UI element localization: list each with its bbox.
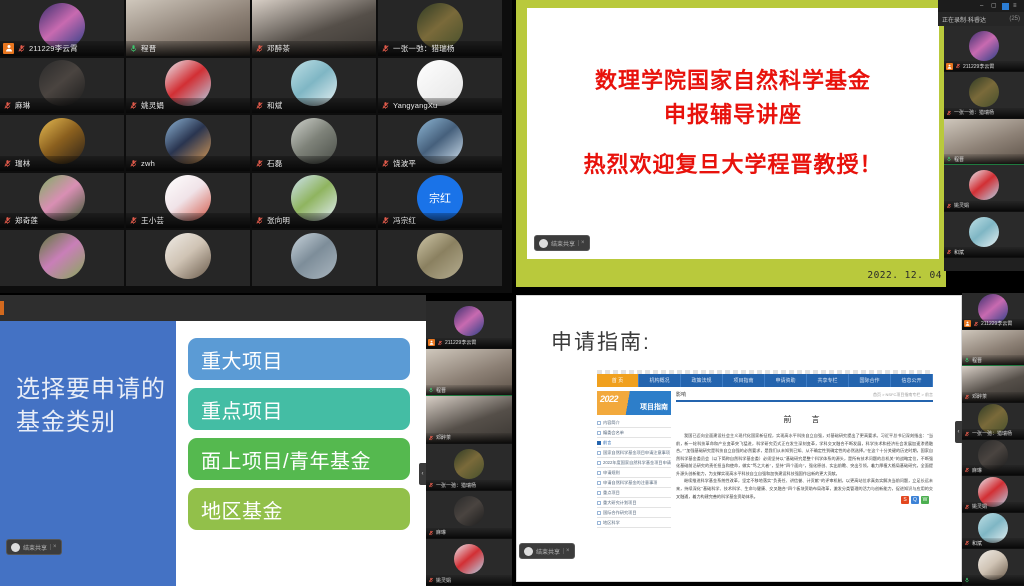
participant-name: 麻琳	[972, 467, 982, 474]
participant-namebar: 和斌	[252, 98, 376, 113]
participant-namebar: 一张一弛：猎瑞杨	[426, 480, 512, 490]
title-slide-canvas: 数理学院国家自然科学基金 申报辅导讲座 热烈欢迎复旦大学程晋教授！	[527, 8, 939, 259]
filmstrip-tile[interactable]: 和斌	[944, 212, 1024, 258]
mic-muted-icon	[428, 435, 434, 441]
bullet-icon	[597, 441, 601, 445]
avatar	[969, 217, 999, 247]
participant-name: 程晋	[954, 156, 964, 163]
filmstrip-tile[interactable]: 211229李云霄	[944, 26, 1024, 72]
participant-namebar: 211229李云霄	[944, 61, 1024, 71]
participant-namebar: 和斌	[944, 247, 1024, 257]
hamburger-icon[interactable]: ≡	[1013, 3, 1020, 10]
filmstrip-bottom-right[interactable]: 211229李云霄程晋邓醉茶一张一弛：猎瑞杨麻琳姚灵娟和斌	[962, 293, 1024, 586]
recording-indicator-icon	[0, 301, 4, 315]
participant-tile[interactable]: 王小芸	[126, 173, 250, 229]
avatar	[165, 233, 211, 279]
participant-name: 邓醉茶	[436, 434, 451, 441]
guide-banner: 2022 项目指南	[597, 391, 671, 415]
filmstrip-tile[interactable]: 邓醉茶	[426, 396, 512, 444]
host-icon	[946, 63, 953, 70]
participant-name: zwh	[141, 159, 155, 168]
participant-namebar: 麻琳	[0, 98, 124, 113]
participant-namebar: 一张一弛：猎瑞杨	[944, 108, 1024, 118]
mic-muted-icon	[255, 159, 264, 168]
guide-slide-title: 申请指南:	[551, 326, 651, 356]
participant-tile[interactable]: 郑奇莲	[0, 173, 124, 229]
mic-muted-icon	[964, 504, 970, 510]
participant-tile[interactable]: 石磊	[252, 115, 376, 171]
participant-name: 一张一弛：猎瑞杨	[972, 430, 1012, 437]
fund-category-item: 地区基金	[188, 488, 410, 530]
participant-tile[interactable]: 瑞林	[0, 115, 124, 171]
website-content-header: 影响 首页 > NSFC项目指南专栏 > 前言	[676, 391, 933, 402]
menu-label: 申请自然科学基金的注意事项	[603, 480, 657, 486]
participant-namebar: 姚灵娟	[944, 201, 1024, 211]
menu-label: 内容简介	[603, 420, 620, 426]
participant-tile[interactable]: YangyangXu	[378, 58, 502, 114]
bullet-icon	[597, 451, 601, 455]
qq-share-icon[interactable]: Q	[911, 496, 919, 504]
participant-name: 饶波平	[393, 158, 416, 169]
website-menu-item[interactable]: 申请规则	[597, 468, 671, 478]
filmstrip-tile[interactable]: 程晋	[944, 119, 1024, 165]
participant-namebar: 姚灵娟	[126, 98, 250, 113]
website-menu-item[interactable]: 地区科学	[597, 518, 671, 528]
share-buttons[interactable]: S Q W	[901, 496, 929, 504]
bullet-icon	[597, 471, 601, 475]
website-nav-item[interactable]: 项目指南	[723, 374, 765, 387]
participant-name: 211229李云霄	[981, 320, 1012, 327]
filmstrip-tile[interactable]: 姚灵娟	[426, 539, 512, 586]
filmstrip-tile[interactable]: 一张一弛：猎瑞杨	[426, 444, 512, 492]
participant-name: 211229李云霄	[29, 43, 78, 54]
title-line-2: 申报辅导讲座	[527, 98, 939, 132]
website-menu-item[interactable]: 重点项目	[597, 488, 671, 498]
participant-namebar: 程晋	[426, 385, 512, 395]
participant-namebar: 王小芸	[126, 213, 250, 228]
avatar	[454, 306, 484, 336]
website-menu-item[interactable]: 重大研究计划项目	[597, 498, 671, 508]
mic-muted-icon	[955, 63, 961, 69]
fund-category-item: 面上项目/青年基金	[188, 438, 410, 480]
mic-muted-icon	[428, 530, 434, 536]
participant-tile[interactable]: 宗红冯宗红	[378, 173, 502, 229]
participant-name: 程晋	[436, 387, 446, 394]
filmstrip-tile[interactable]: 程晋	[962, 330, 1024, 367]
close-icon[interactable]: ×	[578, 240, 585, 246]
host-icon	[964, 320, 971, 327]
participant-name: 姚灵娟	[954, 202, 969, 209]
filmstrip-tile[interactable]	[962, 549, 1024, 586]
breadcrumb: 首页 > NSFC项目指南专栏 > 前言	[873, 392, 933, 398]
filmstrip-tile[interactable]: 一张一弛：猎瑞杨	[962, 403, 1024, 440]
filmstrip-tile[interactable]: 邓醉茶	[962, 366, 1024, 403]
participant-name: 211229李云霄	[963, 63, 994, 70]
slide-date: 2022. 12. 04	[867, 270, 942, 281]
mic-on-icon	[946, 156, 952, 162]
mic-on-icon	[964, 357, 970, 363]
website-menu-item[interactable]: 前言	[597, 438, 671, 448]
bullet-icon	[597, 491, 601, 495]
bullet-icon	[597, 511, 601, 515]
participant-count: (25)	[1009, 16, 1020, 22]
participant-namebar: 程晋	[962, 355, 1024, 365]
share-toolbar-label: 结束共享	[23, 543, 47, 552]
avatar	[417, 233, 463, 279]
banner-title: 项目指南	[640, 402, 668, 412]
participant-name: 一张一弛：猎瑞杨	[393, 43, 455, 54]
maximize-icon[interactable]: ▢	[991, 3, 998, 10]
participant-name: 邓醉茶	[972, 393, 987, 400]
mic-muted-icon	[973, 321, 979, 327]
participant-tile[interactable]: 饶波平	[378, 115, 502, 171]
guide-slide-canvas: 申请指南: 首 页机构概况政策法规项目指南申请资助共享专栏国际合作信息公开 20…	[516, 295, 962, 582]
participant-tile[interactable]: 邓醉茶	[252, 0, 376, 56]
participant-name: 一张一弛：猎瑞杨	[954, 109, 994, 116]
participant-namebar	[962, 575, 1024, 585]
participant-name: 和斌	[972, 540, 982, 547]
avatar	[969, 77, 999, 107]
website-nav[interactable]: 首 页机构概况政策法规项目指南申请资助共享专栏国际合作信息公开	[597, 374, 933, 387]
participant-name: 张向明	[267, 215, 290, 226]
filmstrip-tile[interactable]: 程晋	[426, 349, 512, 397]
participant-namebar: 麻琳	[962, 465, 1024, 475]
website-nav-item[interactable]: 机构概况	[639, 374, 681, 387]
filmstrip-tile[interactable]: 211229李云霄	[426, 301, 512, 349]
browser-chrome-strip	[597, 370, 933, 374]
article-paragraph-1: 我国已迈向全面建设社会主义现代化国家新征程，实现高水平科技自立自强，对基础研究提…	[676, 432, 933, 477]
mic-muted-icon	[964, 394, 970, 400]
host-icon	[428, 339, 435, 346]
menu-label: 国际合作研究项目	[603, 510, 637, 516]
participant-namebar: 程晋	[126, 41, 250, 56]
participant-namebar: 张向明	[252, 213, 376, 228]
menu-label: 前言	[603, 440, 611, 446]
share-toolbar-label: 结束共享	[536, 547, 560, 556]
menu-label: 申请规则	[603, 470, 620, 476]
filmstrip-tile[interactable]: 麻琳	[426, 491, 512, 539]
website-menu-item[interactable]: 编委会名单	[597, 428, 671, 438]
menu-label: 地区科学	[603, 520, 620, 526]
participant-name: 姚灵娟	[436, 577, 451, 584]
participant-namebar: 姚灵娟	[426, 575, 512, 585]
close-icon[interactable]: ×	[563, 548, 570, 554]
website-menu-item[interactable]: 国际合作研究项目	[597, 508, 671, 518]
website-menu-item[interactable]: 内容简介	[597, 418, 671, 428]
website-menu-item[interactable]: 2022年度国家自然科学基金项目申请须知	[597, 458, 671, 468]
fund-category-item: 重大项目	[188, 338, 410, 380]
participant-name: 麻琳	[436, 529, 446, 536]
participant-tile[interactable]: 和斌	[252, 58, 376, 114]
participant-namebar: 程晋	[944, 154, 1024, 164]
participant-tile[interactable]: 程晋	[126, 0, 250, 56]
mic-muted-icon	[129, 159, 138, 168]
participant-name: 邓醉茶	[267, 43, 290, 54]
mic-muted-icon	[17, 44, 26, 53]
mic-muted-icon	[946, 110, 952, 116]
category-list: 重大项目重点项目面上项目/青年基金地区基金	[176, 321, 426, 586]
participant-namebar: YangyangXu	[378, 98, 502, 113]
restore-icon[interactable]	[1002, 3, 1009, 10]
filmstrip-tile[interactable]: 一张一弛：猎瑞杨	[944, 72, 1024, 118]
website-body: 2022 项目指南 内容简介编委会名单前言国家自然科学基金项目申请注意事项202…	[597, 391, 933, 528]
participant-namebar: 211229李云霄	[962, 319, 1024, 329]
menu-label: 重大研究计划项目	[603, 500, 637, 506]
recording-title: 正在录制·科睿达	[942, 15, 986, 24]
mic-muted-icon	[255, 216, 264, 225]
bullet-icon	[597, 421, 601, 425]
participant-tile[interactable]: 麻琳	[0, 58, 124, 114]
participant-name: 郑奇莲	[15, 215, 38, 226]
website-right-column: 影响 首页 > NSFC项目指南专栏 > 前言 前 言 我国已迈向全面建设社会主…	[676, 391, 933, 528]
mic-muted-icon	[255, 44, 264, 53]
fund-category-item: 重点项目	[188, 388, 410, 430]
category-slide-canvas: 选择要申请的基金类别 重大项目重点项目面上项目/青年基金地区基金	[0, 321, 426, 586]
website-side-menu[interactable]: 内容简介编委会名单前言国家自然科学基金项目申请注意事项2022年度国家自然科学基…	[597, 418, 671, 528]
participant-namebar: 饶波平	[378, 156, 502, 171]
share-toolbar-label: 结束共享	[551, 239, 575, 248]
mic-muted-icon	[964, 467, 970, 473]
collapse-filmstrip-button[interactable]: ‹	[955, 421, 962, 443]
pane-participant-gallery: 211229李云霄程晋邓醉茶一张一弛：猎瑞杨麻琳姚灵娟和斌YangyangXu瑞…	[0, 0, 512, 293]
share-toolbar-top-right[interactable]: 结束共享 ×	[534, 235, 590, 251]
participant-namebar: zwh	[126, 156, 250, 171]
participant-tile[interactable]: zwh	[126, 115, 250, 171]
website-nav-item[interactable]: 申请资助	[765, 374, 807, 387]
filmstrip-tile[interactable]: 211229李云霄	[962, 293, 1024, 330]
participant-name: 王小芸	[141, 215, 164, 226]
share-toolbar-bottom-left[interactable]: 结束共享 ×	[6, 539, 62, 555]
website-nav-item[interactable]: 政策法规	[681, 374, 723, 387]
title-line-3: 热烈欢迎复旦大学程晋教授！	[527, 148, 939, 182]
website-left-column: 2022 项目指南 内容简介编委会名单前言国家自然科学基金项目申请注意事项202…	[597, 391, 671, 528]
website-menu-item[interactable]: 国家自然科学基金项目申请注意事项	[597, 448, 671, 458]
participant-namebar: 邓醉茶	[252, 41, 376, 56]
mic-muted-icon	[946, 203, 952, 209]
title-slide-text: 数理学院国家自然科学基金 申报辅导讲座 热烈欢迎复旦大学程晋教授！	[527, 64, 939, 182]
mic-on-icon	[428, 387, 434, 393]
category-slide-heading: 选择要申请的基金类别	[16, 373, 166, 439]
participant-name: 麻琳	[15, 100, 30, 111]
website-nav-item[interactable]: 共享专栏	[807, 374, 849, 387]
mic-muted-icon	[129, 101, 138, 110]
avatar	[969, 31, 999, 61]
avatar	[39, 233, 85, 279]
mic-muted-icon	[381, 44, 390, 53]
weibo-share-icon[interactable]: S	[901, 496, 909, 504]
participant-tile[interactable]	[0, 230, 124, 286]
participant-name: 瑞林	[15, 158, 30, 169]
mic-muted-icon	[437, 340, 443, 346]
filmstrip-top-right[interactable]: 211229李云霄一张一弛：猎瑞杨程晋姚灵娟和斌	[944, 26, 1024, 258]
participant-name: YangyangXu	[393, 101, 437, 110]
participant-tile[interactable]: 一张一弛：猎瑞杨	[378, 0, 502, 56]
participant-name: 程晋	[141, 43, 156, 54]
website-nav-item[interactable]: 信息公开	[891, 374, 933, 387]
article-title: 前 言	[676, 414, 933, 425]
nsfc-website-screenshot: 首 页机构概况政策法规项目指南申请资助共享专栏国际合作信息公开 2022 项目指…	[597, 374, 933, 549]
participant-name: 冯宗红	[393, 215, 416, 226]
participant-namebar: 麻琳	[426, 528, 512, 538]
close-icon[interactable]: ×	[50, 544, 57, 550]
mic-muted-icon	[129, 216, 138, 225]
minimize-icon[interactable]: –	[980, 3, 987, 10]
participant-name: 石磊	[267, 158, 282, 169]
mic-on-icon	[129, 44, 138, 53]
mic-muted-icon	[964, 431, 970, 437]
bullet-icon	[597, 461, 601, 465]
participant-name: 和斌	[267, 100, 282, 111]
title-line-1: 数理学院国家自然科学基金	[527, 64, 939, 98]
participant-namebar: 邓醉茶	[426, 433, 512, 443]
mic-muted-icon	[381, 101, 390, 110]
share-stop-icon	[524, 547, 533, 556]
filmstrip-tile[interactable]: 麻琳	[962, 440, 1024, 477]
participant-namebar: 邓醉茶	[962, 392, 1024, 402]
participant-name: 程晋	[972, 357, 982, 364]
participant-name: 姚灵娟	[141, 100, 164, 111]
mic-muted-icon	[428, 482, 434, 488]
participant-name: 211229李云霄	[445, 339, 476, 346]
share-stop-icon	[11, 543, 20, 552]
avatar	[454, 449, 484, 479]
filmstrip-bottom-left[interactable]: 211229李云霄程晋邓醉茶一张一弛：猎瑞杨麻琳姚灵娟	[426, 301, 512, 586]
participant-grid: 211229李云霄程晋邓醉茶一张一弛：猎瑞杨麻琳姚灵娟和斌YangyangXu瑞…	[0, 0, 502, 286]
recording-topbar	[0, 295, 426, 321]
participant-tile[interactable]	[252, 230, 376, 286]
mic-muted-icon	[381, 159, 390, 168]
participant-namebar: 瑞林	[0, 156, 124, 171]
participant-namebar: 和斌	[962, 538, 1024, 548]
mic-muted-icon	[381, 216, 390, 225]
filmstrip-tile[interactable]: 和斌	[962, 513, 1024, 550]
pane-title-slide: 数理学院国家自然科学基金 申报辅导讲座 热烈欢迎复旦大学程晋教授！ 2022. …	[512, 0, 1024, 293]
mic-muted-icon	[3, 101, 12, 110]
content-section-label: 影响	[676, 391, 686, 398]
participant-namebar: 石磊	[252, 156, 376, 171]
pane-fund-category-slide: 选择要申请的基金类别 重大项目重点项目面上项目/青年基金地区基金 结束共享 × …	[0, 293, 512, 586]
mic-muted-icon	[255, 101, 264, 110]
article-paragraph-2: 继续推进科学基金系统性改革，坚定不移地落实“负责任、讲信誉、计贡献”的评审机制，…	[676, 477, 933, 500]
banner-year: 2022	[600, 394, 618, 404]
mic-muted-icon	[964, 540, 970, 546]
participant-namebar: 姚灵娟	[962, 502, 1024, 512]
wechat-share-icon[interactable]: W	[921, 496, 929, 504]
mic-muted-icon	[3, 216, 12, 225]
share-toolbar-bottom-right[interactable]: 结束共享 ×	[519, 543, 575, 559]
mic-muted-icon	[946, 249, 952, 255]
participant-tile[interactable]: 张向明	[252, 173, 376, 229]
collapse-filmstrip-button[interactable]: ‹	[419, 463, 426, 485]
mic-muted-icon	[3, 159, 12, 168]
menu-label: 重点项目	[603, 490, 620, 496]
website-nav-item[interactable]: 国际合作	[849, 374, 891, 387]
participant-name: 一张一弛：猎瑞杨	[436, 482, 476, 489]
participant-namebar: 一张一弛：猎瑞杨	[378, 41, 502, 56]
share-stop-icon	[539, 239, 548, 248]
quad-screenshot-grid: 211229李云霄程晋邓醉茶一张一弛：猎瑞杨麻琳姚灵娟和斌YangyangXu瑞…	[0, 0, 1024, 586]
participant-tile[interactable]: 211229李云霄	[0, 0, 124, 56]
avatar	[454, 544, 484, 574]
bullet-icon	[597, 481, 601, 485]
bullet-icon	[597, 521, 601, 525]
bullet-icon	[597, 431, 601, 435]
participant-namebar: 一张一弛：猎瑞杨	[962, 429, 1024, 439]
participant-namebar: 211229李云霄	[0, 41, 124, 56]
filmstrip-tile[interactable]: 姚灵娟	[962, 476, 1024, 513]
participant-namebar: 冯宗红	[378, 213, 502, 228]
filmstrip-tile[interactable]: 姚灵娟	[944, 165, 1024, 211]
menu-label: 国家自然科学基金项目申请注意事项	[603, 450, 670, 456]
avatar	[291, 233, 337, 279]
bullet-icon	[597, 501, 601, 505]
participant-tile[interactable]	[126, 230, 250, 286]
website-menu-item[interactable]: 申请自然科学基金的注意事项	[597, 478, 671, 488]
website-nav-item[interactable]: 首 页	[597, 374, 639, 387]
meeting-status-bar: 正在录制·科睿达 (25)	[938, 12, 1024, 26]
participant-tile[interactable]	[378, 230, 502, 286]
participant-name: 和斌	[954, 249, 964, 256]
participant-namebar: 211229李云霄	[426, 338, 512, 348]
avatar	[454, 496, 484, 526]
participant-tile[interactable]: 姚灵娟	[126, 58, 250, 114]
avatar	[969, 170, 999, 200]
pane-application-guide-slide: 申请指南: 首 页机构概况政策法规项目指南申请资助共享专栏国际合作信息公开 20…	[512, 293, 1024, 586]
window-controls-bar[interactable]: – ▢ ≡	[938, 0, 1024, 12]
menu-label: 编委会名单	[603, 430, 624, 436]
participant-namebar: 郑奇莲	[0, 213, 124, 228]
participant-name: 姚灵娟	[972, 503, 987, 510]
host-icon	[3, 43, 14, 54]
mic-muted-icon	[428, 577, 434, 583]
mic-on-icon	[964, 577, 970, 583]
menu-label: 2022年度国家自然科学基金项目申请须知	[603, 460, 671, 466]
